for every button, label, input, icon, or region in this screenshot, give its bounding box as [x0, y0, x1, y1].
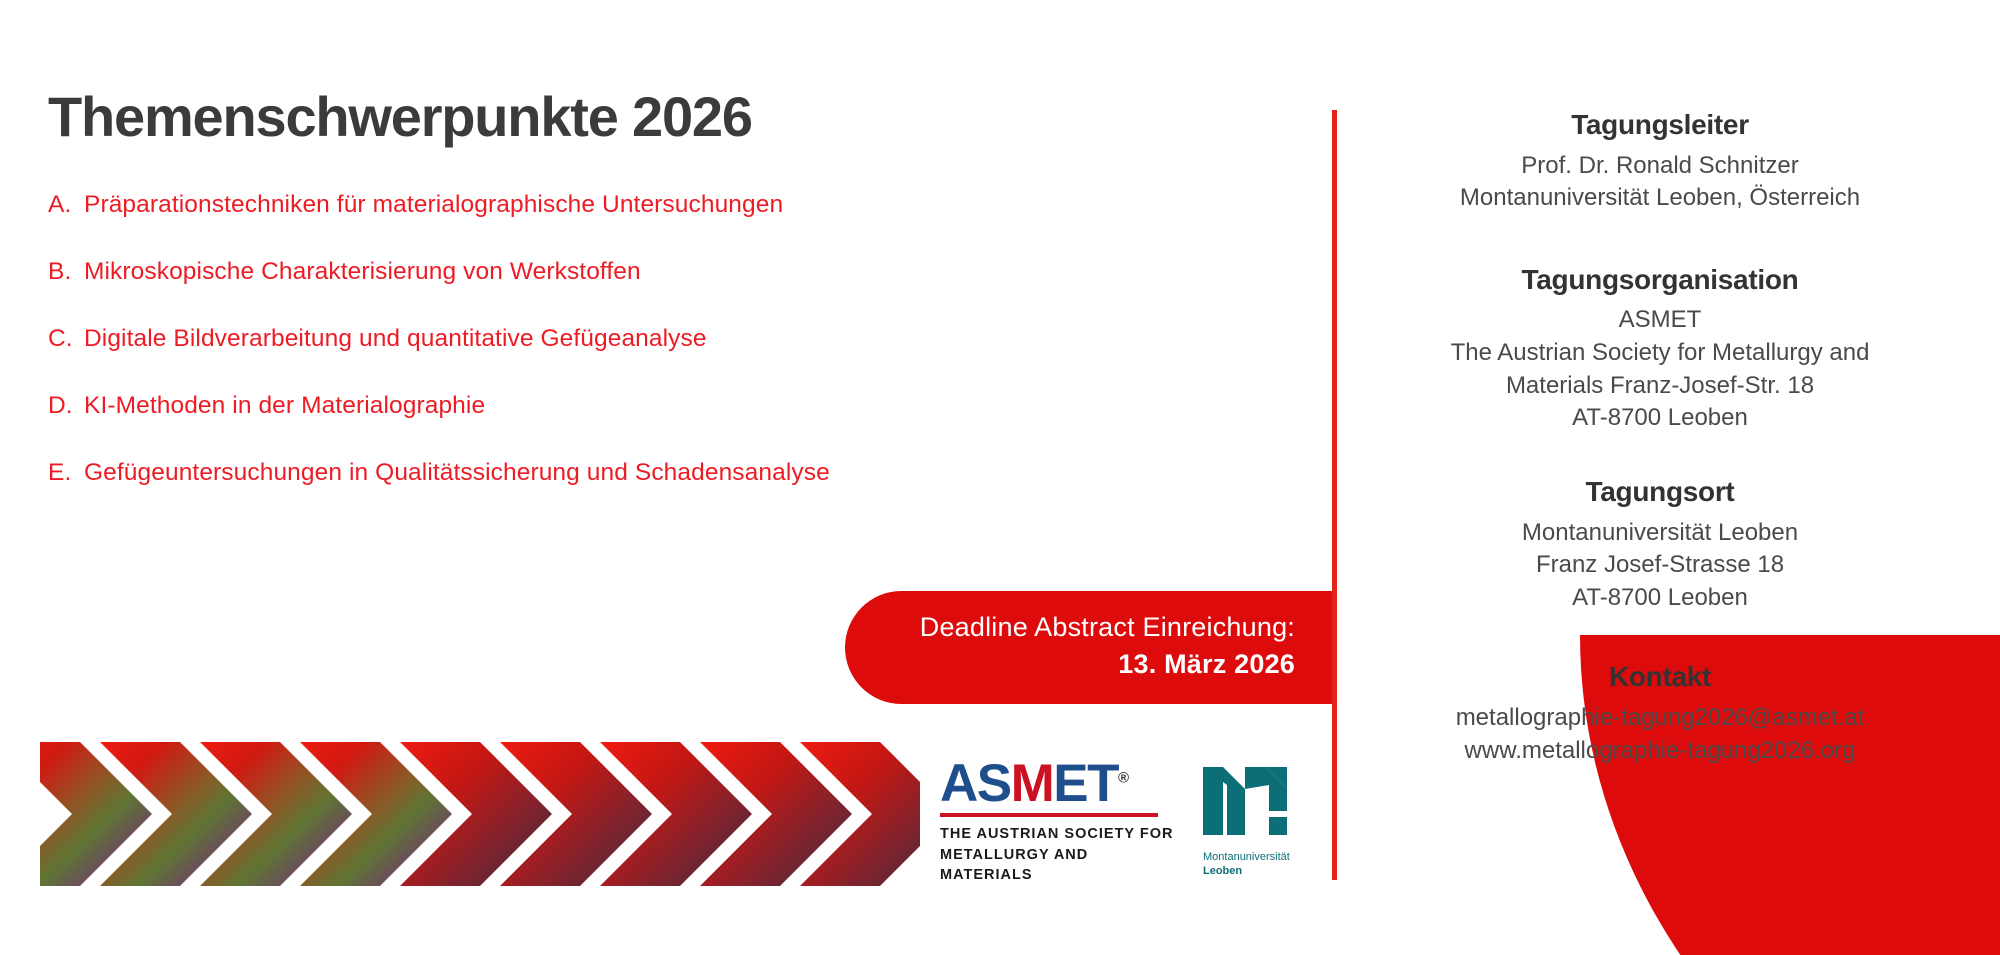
contact-website[interactable]: www.metallographie-tagung2026.org	[1360, 735, 1960, 768]
info-line: Montanuniversität Leoben	[1360, 517, 1960, 550]
page-title: Themenschwerpunkte 2026	[48, 88, 1288, 147]
list-item: E. Gefügeuntersuchungen in Qualitätssich…	[48, 459, 1288, 487]
deadline-label: Deadline Abstract Einreichung:	[845, 610, 1295, 645]
info-line: Prof. Dr. Ronald Schnitzer	[1360, 150, 1960, 183]
asmet-tagline-line1: THE AUSTRIAN SOCIETY FOR	[940, 824, 1175, 845]
asmet-wordmark-as: AS	[940, 754, 1011, 813]
topic-letter: A.	[48, 191, 84, 219]
topic-list: A. Präparationstechniken für materialogr…	[48, 191, 1288, 487]
info-block-kontakt: Kontakt metallographie-tagung2026@asmet.…	[1360, 660, 1960, 767]
logo-row: ASMET® THE AUSTRIAN SOCIETY FOR METALLUR…	[940, 757, 1303, 886]
info-line: Franz Josef-Strasse 18	[1360, 549, 1960, 582]
topic-letter: E.	[48, 459, 84, 487]
poster-canvas: Themenschwerpunkte 2026 A. Präparationst…	[0, 0, 2000, 955]
mul-mark-icon	[1203, 761, 1295, 841]
topic-text: Digitale Bildverarbeitung und quantitati…	[84, 325, 707, 353]
topic-letter: D.	[48, 392, 84, 420]
deadline-date: 13. März 2026	[845, 645, 1295, 684]
asmet-tagline-line2: METALLURGY AND MATERIALS	[940, 845, 1175, 886]
left-content-column: Themenschwerpunkte 2026 A. Präparationst…	[48, 88, 1288, 526]
topic-text: Gefügeuntersuchungen in Qualitätssicheru…	[84, 459, 830, 487]
asmet-wordmark: ASMET®	[940, 757, 1175, 810]
contact-email[interactable]: metallographie-tagung2026@asmet.at	[1360, 702, 1960, 735]
topic-letter: B.	[48, 258, 84, 286]
mul-subtitle-line1: Montanuniversität	[1203, 851, 1303, 865]
info-block-tagungsleiter: Tagungsleiter Prof. Dr. Ronald Schnitzer…	[1360, 108, 1960, 215]
info-body: metallographie-tagung2026@asmet.at www.m…	[1360, 702, 1960, 767]
info-heading: Kontakt	[1360, 660, 1960, 694]
registered-trademark-icon: ®	[1118, 769, 1128, 786]
right-info-column: Tagungsleiter Prof. Dr. Ronald Schnitzer…	[1360, 108, 1960, 767]
info-body: Montanuniversität Leoben Franz Josef-Str…	[1360, 517, 1960, 615]
mul-subtitle: Montanuniversität Leoben	[1203, 851, 1303, 879]
info-line: ASMET	[1360, 304, 1960, 337]
info-heading: Tagungsort	[1360, 475, 1960, 509]
asmet-wordmark-et: ET	[1053, 754, 1118, 813]
info-heading: Tagungsorganisation	[1360, 263, 1960, 297]
montanuniversitaet-logo: Montanuniversität Leoben	[1203, 757, 1303, 879]
info-block-tagungsorganisation: Tagungsorganisation ASMET The Austrian S…	[1360, 263, 1960, 435]
info-line: The Austrian Society for Metallurgy and	[1360, 337, 1960, 370]
asmet-logo: ASMET® THE AUSTRIAN SOCIETY FOR METALLUR…	[940, 757, 1175, 886]
list-item: A. Präparationstechniken für materialogr…	[48, 191, 1288, 219]
asmet-tagline: THE AUSTRIAN SOCIETY FOR METALLURGY AND …	[940, 824, 1175, 886]
chevron-decoration	[40, 742, 920, 886]
topic-text: KI-Methoden in der Materialographie	[84, 392, 485, 420]
info-block-tagungsort: Tagungsort Montanuniversität Leoben Fran…	[1360, 475, 1960, 614]
info-line: AT-8700 Leoben	[1360, 582, 1960, 615]
topic-text: Präparationstechniken für materialograph…	[84, 191, 783, 219]
asmet-wordmark-m: M	[1011, 754, 1054, 813]
info-line: Montanuniversität Leoben, Österreich	[1360, 182, 1960, 215]
info-line: AT-8700 Leoben	[1360, 402, 1960, 435]
info-body: Prof. Dr. Ronald Schnitzer Montanunivers…	[1360, 150, 1960, 215]
info-line: Materials Franz-Josef-Str. 18	[1360, 370, 1960, 403]
list-item: D. KI-Methoden in der Materialographie	[48, 392, 1288, 420]
topic-text: Mikroskopische Charakterisierung von Wer…	[84, 258, 641, 286]
vertical-divider	[1332, 110, 1337, 880]
list-item: C. Digitale Bildverarbeitung und quantit…	[48, 325, 1288, 353]
mul-subtitle-line2: Leoben	[1203, 865, 1303, 879]
info-body: ASMET The Austrian Society for Metallurg…	[1360, 304, 1960, 435]
info-heading: Tagungsleiter	[1360, 108, 1960, 142]
deadline-badge: Deadline Abstract Einreichung: 13. März …	[845, 591, 1335, 704]
topic-letter: C.	[48, 325, 84, 353]
list-item: B. Mikroskopische Charakterisierung von …	[48, 258, 1288, 286]
asmet-rule-divider	[940, 813, 1158, 817]
